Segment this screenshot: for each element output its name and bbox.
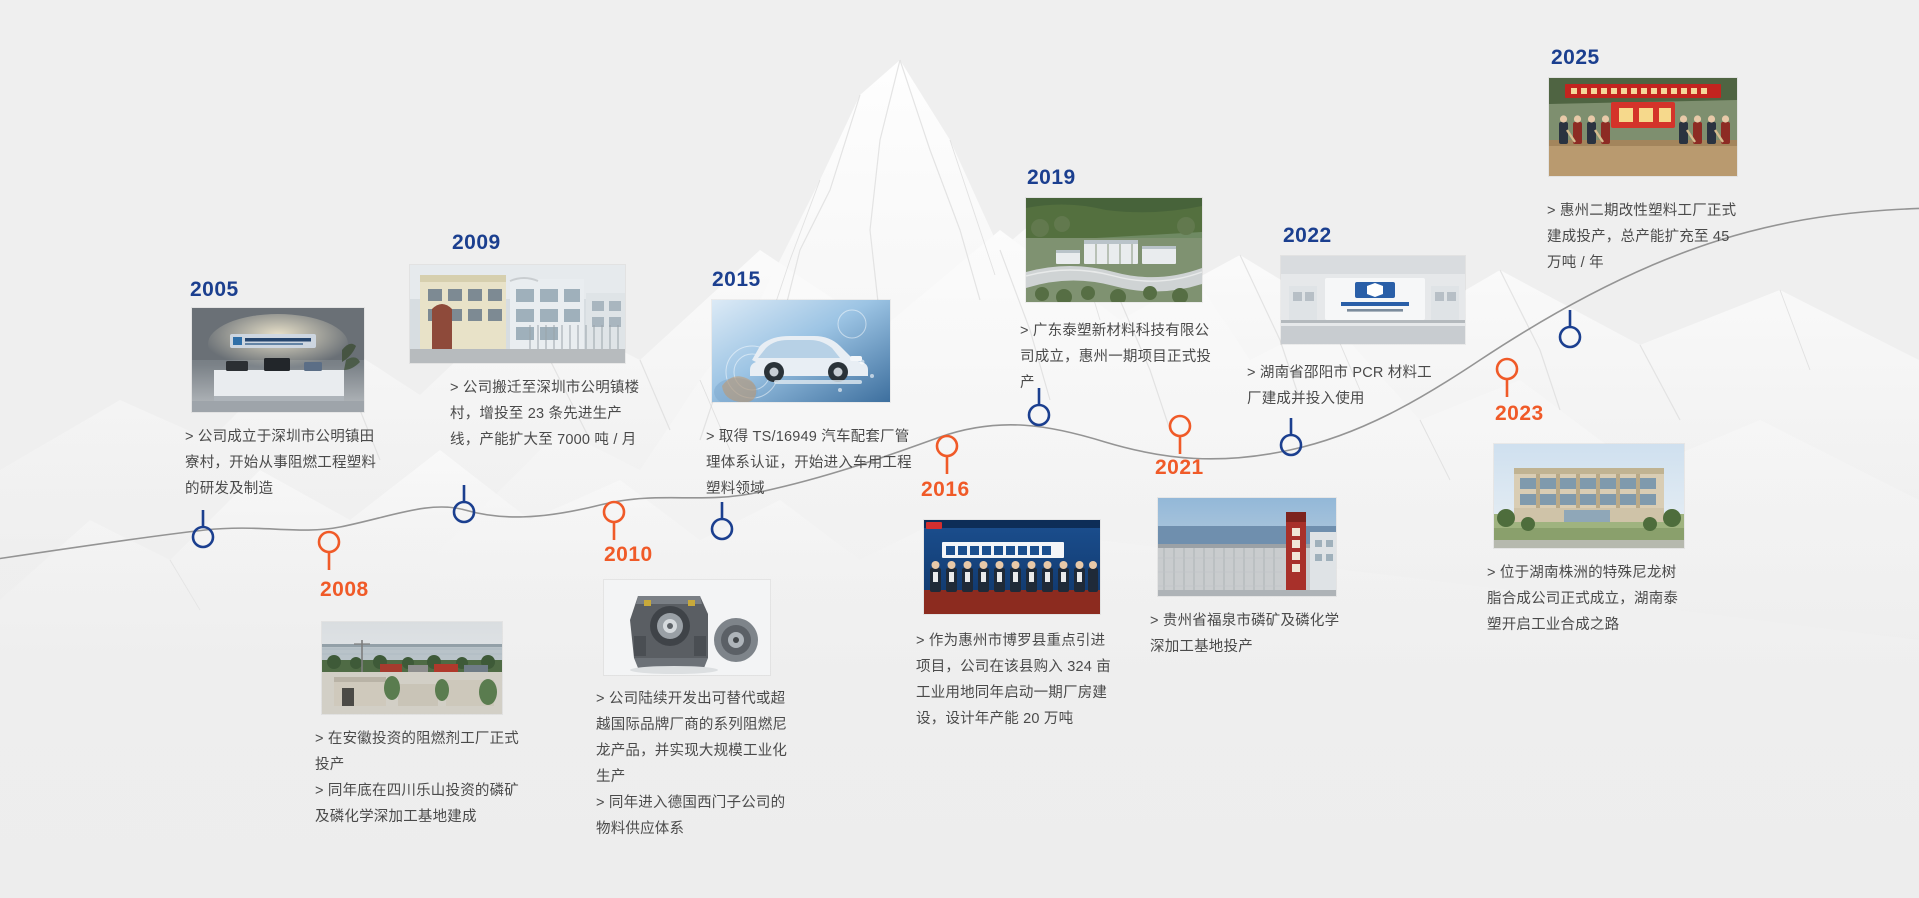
photo-2016[interactable] [924,520,1100,614]
photo-2008[interactable] [322,622,502,714]
desc-line: 贵州省福泉市磷矿及磷化学深加工基地投产 [1150,608,1340,660]
year-label-2021: 2021 [1155,456,1204,480]
year-label-2022: 2022 [1283,224,1332,248]
photo-2009[interactable] [410,265,625,363]
marker-pin-2023[interactable] [1494,355,1520,401]
description-2025: 惠州二期改性塑料工厂正式建成投产，总产能扩充至 45 万吨 / 年 [1547,198,1747,276]
photo-2025[interactable] [1549,78,1737,176]
description-2016: 作为惠州市博罗县重点引进项目，公司在该县购入 324 亩工业用地同年启动一期厂房… [916,628,1116,732]
desc-line: 惠州二期改性塑料工厂正式建成投产，总产能扩充至 45 万吨 / 年 [1547,198,1747,276]
photo-2005[interactable] [192,308,364,412]
description-2022: 湖南省邵阳市 PCR 材料工厂建成并投入使用 [1247,360,1443,412]
description-2009: 公司搬迁至深圳市公明镇楼村，增投至 23 条先进生产线，产能扩大至 7000 吨… [450,375,650,453]
marker-pin-2025[interactable] [1557,310,1583,356]
year-label-2009: 2009 [452,231,501,255]
desc-line: 作为惠州市博罗县重点引进项目，公司在该县购入 324 亩工业用地同年启动一期厂房… [916,628,1116,732]
year-label-2015: 2015 [712,268,761,292]
year-label-2019: 2019 [1027,166,1076,190]
desc-line: 广东泰塑新材料科技有限公司成立，惠州一期项目正式投产 [1020,318,1218,396]
desc-line: 同年进入德国西门子公司的物料供应体系 [596,790,796,842]
desc-line: 同年底在四川乐山投资的磷矿及磷化学深加工基地建成 [315,778,525,830]
marker-pin-2021[interactable] [1167,412,1193,458]
photo-2015[interactable] [712,300,890,402]
year-label-2010: 2010 [604,543,653,567]
desc-line: 公司成立于深圳市公明镇田寮村，开始从事阻燃工程塑料的研发及制造 [185,424,385,502]
desc-line: 湖南省邵阳市 PCR 材料工厂建成并投入使用 [1247,360,1443,412]
description-2005: 公司成立于深圳市公明镇田寮村，开始从事阻燃工程塑料的研发及制造 [185,424,385,502]
year-label-2023: 2023 [1495,402,1544,426]
desc-line: 公司陆续开发出可替代或超越国际品牌厂商的系列阻燃尼龙产品，并实现大规模工业化生产 [596,686,796,790]
description-2015: 取得 TS/16949 汽车配套厂管理体系认证，开始进入车用工程塑料领域 [706,424,914,502]
desc-line: 位于湖南株洲的特殊尼龙树脂合成公司正式成立，湖南泰塑开启工业合成之路 [1487,560,1687,638]
photo-2023[interactable] [1494,444,1684,548]
marker-pin-2022[interactable] [1278,418,1304,464]
year-label-2025: 2025 [1551,46,1600,70]
photo-2010[interactable] [604,580,770,675]
marker-pin-2016[interactable] [934,432,960,478]
desc-line: 在安徽投资的阻燃剂工厂正式投产 [315,726,525,778]
photo-2019[interactable] [1026,198,1202,302]
photo-2021[interactable] [1158,498,1336,596]
desc-line: 公司搬迁至深圳市公明镇楼村，增投至 23 条先进生产线，产能扩大至 7000 吨… [450,375,650,453]
year-label-2008: 2008 [320,578,369,602]
description-2019: 广东泰塑新材料科技有限公司成立，惠州一期项目正式投产 [1020,318,1218,396]
description-2021: 贵州省福泉市磷矿及磷化学深加工基地投产 [1150,608,1340,660]
desc-line: 取得 TS/16949 汽车配套厂管理体系认证，开始进入车用工程塑料领域 [706,424,914,502]
marker-pin-2009[interactable] [451,485,477,531]
description-2023: 位于湖南株洲的特殊尼龙树脂合成公司正式成立，湖南泰塑开启工业合成之路 [1487,560,1687,638]
photo-2022[interactable] [1281,256,1465,344]
description-2010: 公司陆续开发出可替代或超越国际品牌厂商的系列阻燃尼龙产品，并实现大规模工业化生产… [596,686,796,842]
description-2008: 在安徽投资的阻燃剂工厂正式投产 同年底在四川乐山投资的磷矿及磷化学深加工基地建成 [315,726,525,830]
marker-pin-2008[interactable] [316,528,342,574]
marker-pin-2015[interactable] [709,502,735,548]
marker-pin-2005[interactable] [190,510,216,556]
year-label-2016: 2016 [921,478,970,502]
timeline-infographic: 2005 [0,0,1919,898]
marker-pin-2019[interactable] [1026,388,1052,434]
marker-pin-2010[interactable] [601,498,627,544]
year-label-2005: 2005 [190,278,239,302]
